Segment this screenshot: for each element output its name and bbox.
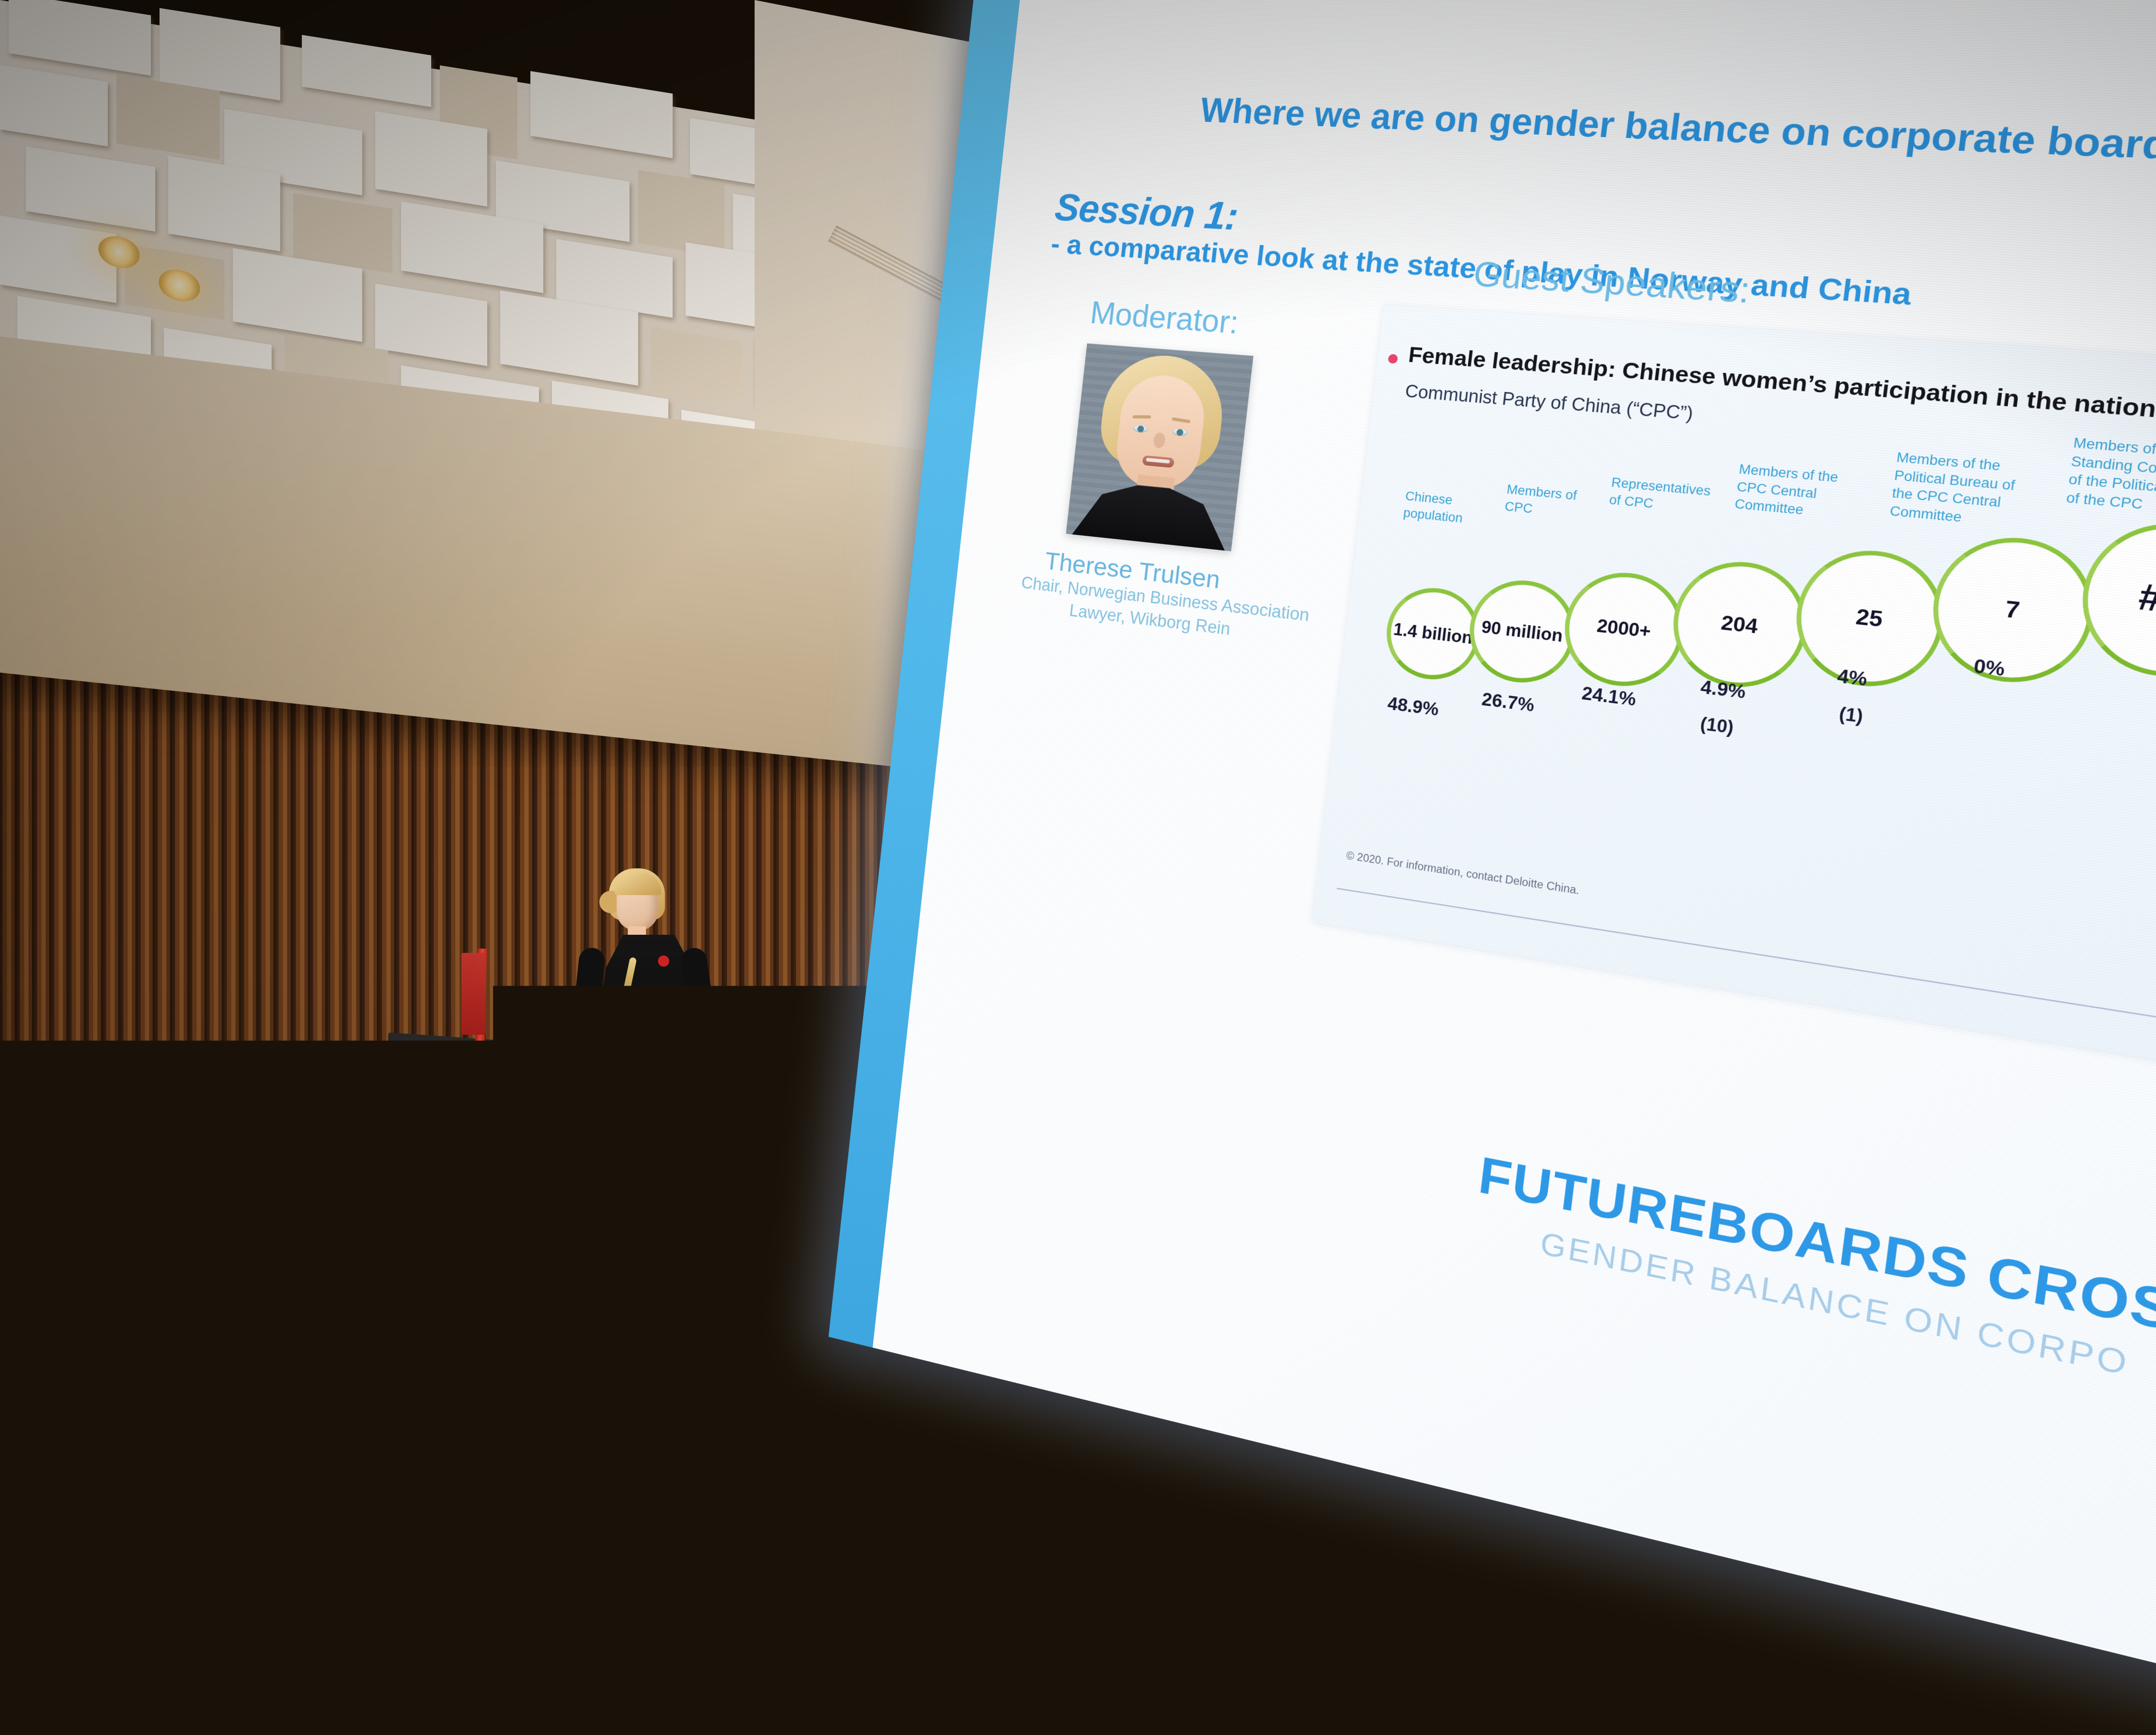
chart-category-label: Members of the Political Bureau of the C… bbox=[1889, 449, 2037, 533]
chart-percent-label: 24.1% bbox=[1581, 683, 1637, 711]
norwegian-flag-panel bbox=[461, 953, 486, 1035]
inset-copyright-note: © 2020. For information, contact Deloitt… bbox=[1346, 849, 1580, 897]
chart-circle-count: 90 million bbox=[1464, 575, 1580, 688]
water-bottle bbox=[520, 1134, 528, 1162]
chart-category-label: Members of the CPC Central Committee bbox=[1734, 460, 1862, 524]
moderator-photo bbox=[1066, 344, 1253, 551]
conference-hall-photo: Session 1: Where we are on gender balanc… bbox=[0, 0, 2156, 1735]
chart-category-label: Members of CPC bbox=[1504, 481, 1581, 522]
chart-circle-count: 2000+ bbox=[1558, 567, 1690, 692]
chart-category-label: Members of the Standing Committee of the… bbox=[2065, 434, 2156, 521]
chart-circle-count: 7 bbox=[1925, 531, 2102, 690]
water-bottle bbox=[507, 1132, 515, 1160]
chart-category-label: Chinese population bbox=[1402, 488, 1482, 529]
pink-bullet-icon bbox=[1388, 354, 1398, 364]
chart-percent-label: 48.9% bbox=[1386, 694, 1439, 720]
chart-circle-count: 1.4 billion bbox=[1382, 583, 1485, 685]
chart-circle-count: 25 bbox=[1789, 544, 1952, 694]
chart-percent-label: 0% bbox=[1972, 656, 2006, 681]
inset-slide-subtitle: Communist Party of China (“CPC”) bbox=[1404, 382, 1694, 425]
chart-count-sublabel: (1) bbox=[1838, 703, 1864, 727]
chart-circle-count: # 1 bbox=[2074, 517, 2156, 685]
chart-percent-label: 4% bbox=[1836, 666, 1868, 691]
chart-category-label: Representatives of CPC bbox=[1608, 474, 1704, 517]
water-bottle bbox=[494, 1133, 502, 1161]
chart-circle-count: 204 bbox=[1667, 556, 1814, 694]
chart-percent-label: 26.7% bbox=[1481, 689, 1536, 716]
chart-count-sublabel: (10) bbox=[1699, 714, 1735, 738]
